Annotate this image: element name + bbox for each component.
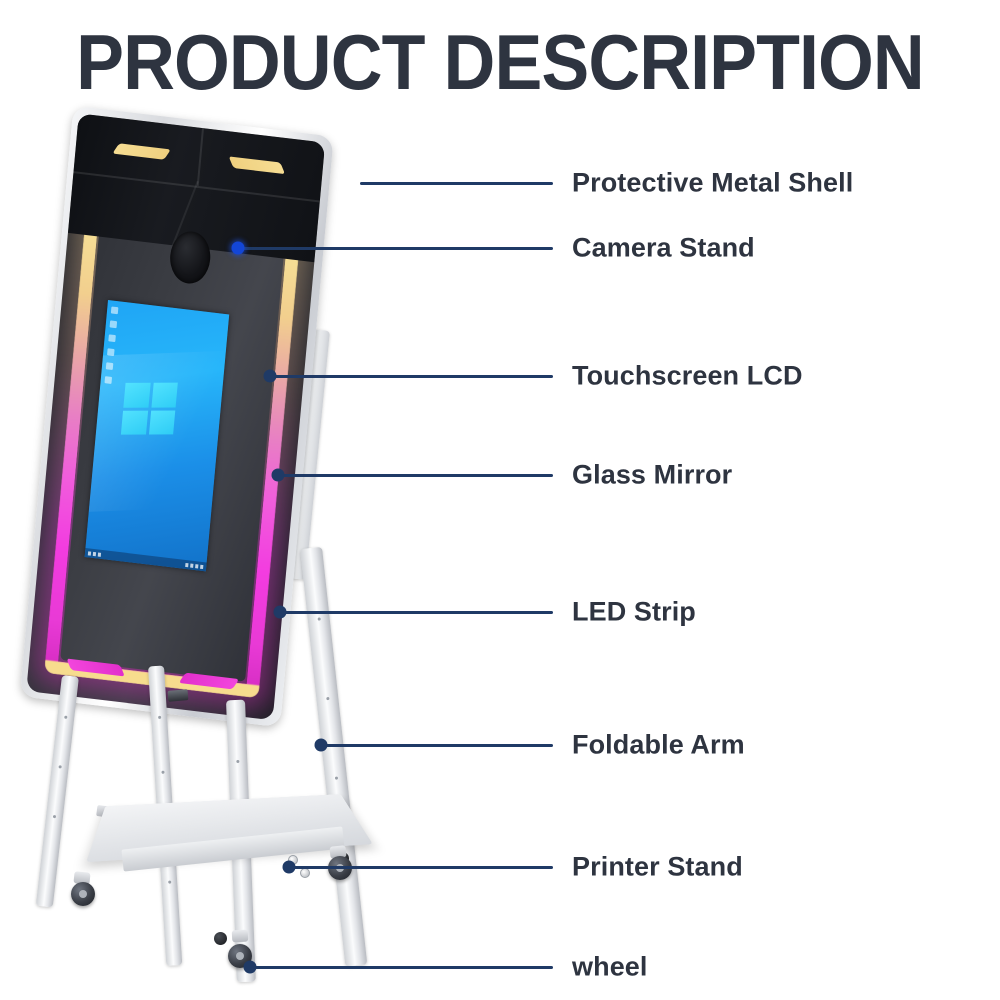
touchscreen-lcd-part[interactable] [85, 300, 230, 571]
windows-logo-icon [121, 383, 178, 435]
leader-line-touchscreen-lcd [270, 375, 553, 378]
bezel-seam [197, 128, 204, 186]
callout-label-led-strip: LED Strip [572, 597, 696, 628]
leader-line-protective-metal-shell [360, 182, 553, 185]
callout-label-protective-metal-shell: Protective Metal Shell [572, 168, 853, 199]
wheel-part [71, 882, 95, 906]
leader-line-wheel [250, 966, 553, 969]
foldable-arm-part [300, 547, 367, 967]
callout-label-glass-mirror: Glass Mirror [572, 460, 732, 491]
leader-line-camera-stand [238, 247, 553, 250]
product-description-diagram: PRODUCT DESCRIPTION [0, 0, 1000, 1000]
callout-label-wheel: wheel [572, 952, 648, 983]
display-panel [26, 113, 325, 720]
anchor-dot-led-strip [274, 606, 287, 619]
callout-label-foldable-arm: Foldable Arm [572, 730, 745, 761]
anchor-dot-wheel [244, 961, 257, 974]
leader-line-led-strip [280, 611, 553, 614]
leader-line-printer-stand [289, 866, 553, 869]
arm-clamp [168, 689, 189, 702]
stand-leg-rear-left [36, 675, 79, 907]
wheel-brake [214, 932, 227, 945]
anchor-dot-printer-stand [283, 861, 296, 874]
anchor-dot-camera-stand [232, 242, 245, 255]
callout-label-touchscreen-lcd: Touchscreen LCD [572, 361, 803, 392]
product-illustration [0, 0, 560, 1000]
taskbar-left-icons [88, 551, 101, 557]
callout-label-printer-stand: Printer Stand [572, 852, 743, 883]
callout-label-camera-stand: Camera Stand [572, 233, 755, 264]
tray-bolt [300, 868, 310, 878]
mirror-body [26, 113, 325, 720]
leader-line-glass-mirror [278, 474, 553, 477]
anchor-dot-touchscreen-lcd [264, 370, 277, 383]
leader-line-foldable-arm [321, 744, 553, 747]
caster-fork [232, 930, 249, 943]
taskbar-tray-icons [185, 563, 203, 569]
anchor-dot-glass-mirror [272, 469, 285, 482]
anchor-dot-foldable-arm [315, 739, 328, 752]
